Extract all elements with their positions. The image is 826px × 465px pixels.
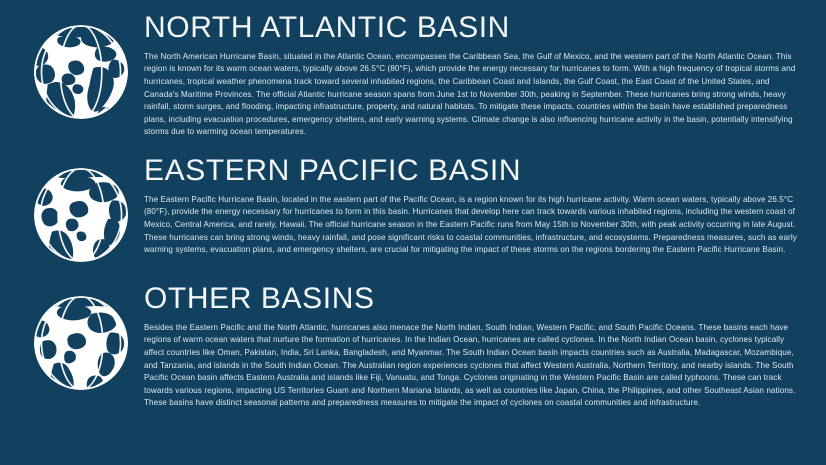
globe-icon [29, 20, 133, 124]
globe-icon-wrap-other-basins [22, 283, 140, 395]
section-heading: NORTH ATLANTIC BASIN [144, 12, 806, 44]
content-north-atlantic: NORTH ATLANTIC BASIN The North American … [140, 12, 812, 139]
section-eastern-pacific: EASTERN PACIFIC BASIN The Eastern Pacifi… [0, 139, 826, 267]
section-north-atlantic: NORTH ATLANTIC BASIN The North American … [0, 0, 826, 139]
section-heading: OTHER BASINS [144, 283, 806, 315]
section-body: Besides the Eastern Pacific and the Nort… [144, 322, 806, 410]
infographic-page: NORTH ATLANTIC BASIN The North American … [0, 0, 826, 465]
section-body: The North American Hurricane Basin, situ… [144, 51, 806, 139]
globe-icon [29, 163, 133, 267]
content-eastern-pacific: EASTERN PACIFIC BASIN The Eastern Pacifi… [140, 155, 812, 257]
section-other-basins: OTHER BASINS Besides the Eastern Pacific… [0, 267, 826, 410]
globe-icon [29, 291, 133, 395]
content-other-basins: OTHER BASINS Besides the Eastern Pacific… [140, 283, 812, 410]
section-heading: EASTERN PACIFIC BASIN [144, 155, 806, 187]
section-body: The Eastern Pacific Hurricane Basin, loc… [144, 194, 806, 257]
globe-icon-wrap-eastern-pacific [22, 155, 140, 267]
globe-icon-wrap-north-atlantic [22, 12, 140, 124]
